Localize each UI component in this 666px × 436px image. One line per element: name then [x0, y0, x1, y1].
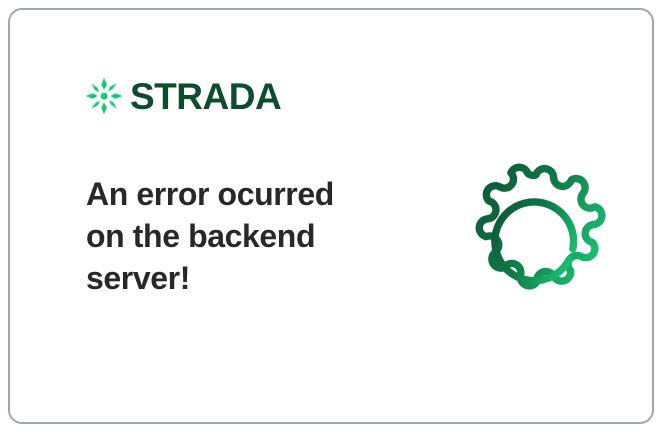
error-message: An error ocurred on the backend server!: [86, 173, 376, 299]
brand-logo: STRADA: [84, 72, 281, 120]
error-card: STRADA An error ocurred on the backend s…: [8, 8, 654, 424]
gear-cog-icon: [454, 152, 618, 316]
error-page-screen: STRADA An error ocurred on the backend s…: [0, 0, 666, 436]
asterisk-snowflake-icon: [84, 76, 124, 116]
brand-name: STRADA: [130, 78, 281, 115]
